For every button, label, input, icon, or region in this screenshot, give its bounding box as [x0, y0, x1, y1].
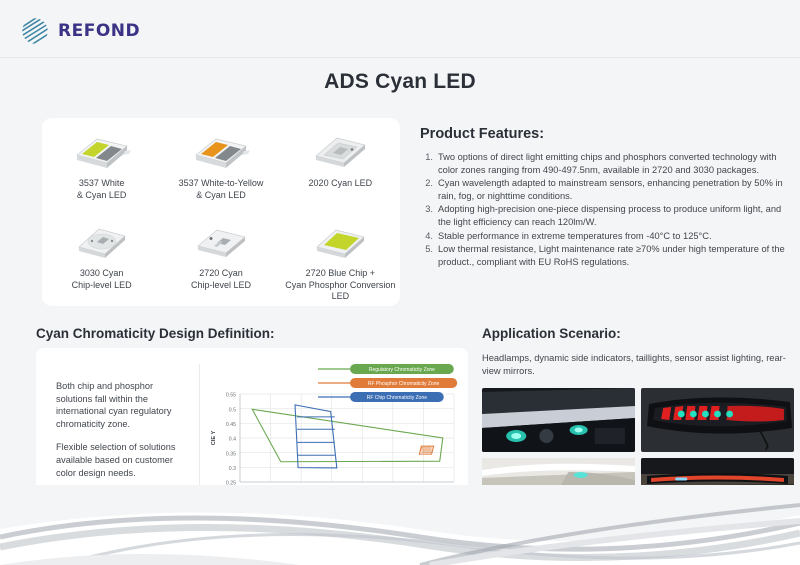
y-axis-title: CIE Y: [211, 430, 217, 445]
feature-number: 4.: [420, 230, 433, 243]
product-label: 3030 Cyan Chip-level LED: [72, 268, 132, 291]
product-item[interactable]: 2720 Cyan Chip-level LED: [161, 216, 280, 306]
product-item[interactable]: 2020 Cyan LED: [281, 126, 400, 216]
feature-number: 1.: [420, 151, 433, 176]
photo-headlamp-cyan-strip[interactable]: [482, 388, 635, 452]
y-tick-label: 0.5: [229, 407, 236, 413]
y-tick-label: 0.35: [226, 451, 236, 457]
product-item[interactable]: 3030 Cyan Chip-level LED: [42, 216, 161, 306]
feature-text: Cyan wavelength adapted to mainstream se…: [438, 177, 788, 202]
chromaticity-section-title: Cyan Chromaticity Design Definition:: [36, 326, 275, 341]
led-package-2720-blue-chip-icon: [309, 218, 371, 264]
chromaticity-description: Both chip and phosphor solutions fall wi…: [56, 380, 188, 490]
product-label: 2720 Blue Chip + Cyan Phosphor Conversio…: [281, 268, 400, 303]
chart-legend-label: RF Phosphor Chromaticity Zone: [368, 381, 440, 387]
application-description: Headlamps, dynamic side indicators, tail…: [482, 352, 794, 377]
product-label: 3537 White-to-Yellow & Cyan LED: [179, 178, 264, 201]
y-tick-label: 0.55: [226, 393, 236, 399]
feature-item: 2. Cyan wavelength adapted to mainstream…: [420, 177, 788, 202]
product-features-list: 1. Two options of direct light emitting …: [420, 151, 788, 268]
feature-item: 5. Low thermal resistance, Light mainten…: [420, 243, 788, 268]
chromaticity-paragraph-2: Flexible selection of solutions availabl…: [56, 441, 188, 479]
y-tick-label: 0.3: [229, 466, 236, 472]
feature-number: 3.: [420, 203, 433, 228]
feature-text: Stable performance in extreme temperatur…: [438, 230, 788, 243]
led-package-white-to-yellow-icon: [190, 128, 252, 174]
led-package-2720-chip-level-icon: [190, 218, 252, 264]
feature-item: 1. Two options of direct light emitting …: [420, 151, 788, 176]
y-tick-label: 0.4: [229, 437, 236, 443]
product-item[interactable]: 2720 Blue Chip + Cyan Phosphor Conversio…: [281, 216, 400, 306]
product-grid: 3537 White & Cyan LED 3537 White-to-Yell…: [42, 126, 400, 306]
feature-number: 2.: [420, 177, 433, 202]
feature-text: Low thermal resistance, Light maintenanc…: [438, 243, 788, 268]
panel-divider: [199, 364, 200, 502]
photo-taillight-cyan-indicators[interactable]: [641, 388, 794, 452]
chromaticity-paragraph-1: Both chip and phosphor solutions fall wi…: [56, 380, 188, 430]
header-divider: [0, 57, 800, 58]
brand-name: REFOND: [58, 21, 140, 41]
product-label: 2720 Cyan Chip-level LED: [191, 268, 251, 291]
product-item[interactable]: 3537 White-to-Yellow & Cyan LED: [161, 126, 280, 216]
chart-legend-label: Regulatory Chromaticity Zone: [369, 367, 435, 373]
refond-sphere-logo-icon: [20, 16, 50, 46]
product-label: 2020 Cyan LED: [309, 178, 373, 190]
product-label: 3537 White & Cyan LED: [77, 178, 127, 201]
product-item[interactable]: 3537 White & Cyan LED: [42, 126, 161, 216]
page-header: REFOND: [0, 0, 800, 57]
product-features-section: Product Features: 1. Two options of dire…: [420, 126, 788, 269]
led-package-2020-cyan-icon: [309, 128, 371, 174]
chart-legend-label: RF Chip Chromaticity Zone: [367, 395, 428, 401]
feature-number: 5.: [420, 243, 433, 268]
feature-text: Adopting high-precision one-piece dispen…: [438, 203, 788, 228]
product-features-title: Product Features:: [420, 126, 788, 142]
bottom-decoration: [0, 485, 800, 565]
product-gallery-panel: 3537 White & Cyan LED 3537 White-to-Yell…: [42, 118, 400, 306]
feature-item: 4. Stable performance in extreme tempera…: [420, 230, 788, 243]
application-section-title: Application Scenario:: [482, 326, 621, 341]
y-tick-label: 0.45: [226, 422, 236, 428]
led-package-3030-chip-level-icon: [71, 218, 133, 264]
page-title: ADS Cyan LED: [0, 70, 800, 94]
brand-logo[interactable]: REFOND: [20, 16, 140, 46]
feature-item: 3. Adopting high-precision one-piece dis…: [420, 203, 788, 228]
feature-text: Two options of direct light emitting chi…: [438, 151, 788, 176]
led-package-white-cyan-icon: [71, 128, 133, 174]
